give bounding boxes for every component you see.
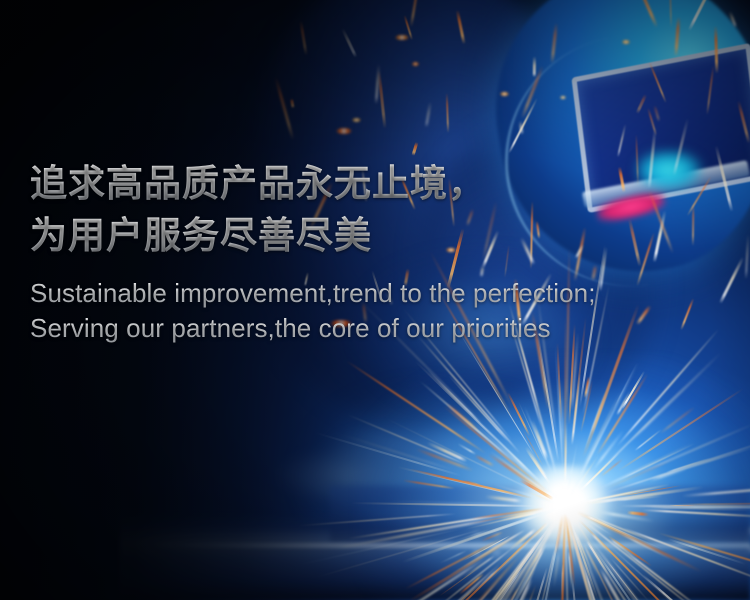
- banner-copy: 追求高品质产品永无止境， 为用户服务尽善尽美 Sustainable impro…: [30, 158, 720, 346]
- subheadline-line-1: Sustainable improvement,trend to the per…: [30, 276, 720, 311]
- subheadline-line-2: Serving our partners,the core of our pri…: [30, 311, 720, 346]
- subheadline: Sustainable improvement,trend to the per…: [30, 276, 720, 346]
- headline-line-2: 为用户服务尽善尽美: [30, 210, 720, 262]
- hero-banner: 追求高品质产品永无止境， 为用户服务尽善尽美 Sustainable impro…: [0, 0, 750, 600]
- headline-line-1: 追求高品质产品永无止境，: [30, 158, 720, 210]
